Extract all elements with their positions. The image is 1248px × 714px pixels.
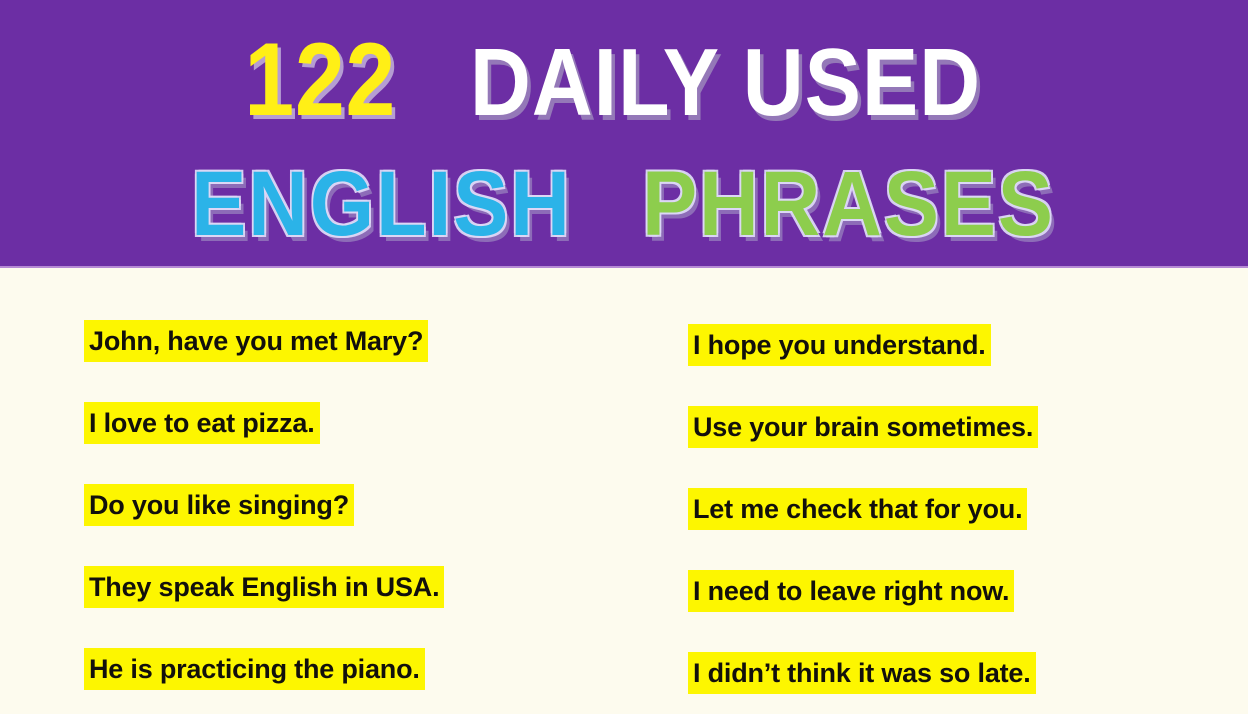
phrase-text: He is practicing the piano.: [84, 648, 425, 690]
title-daily-used: DAILY USED: [470, 35, 981, 131]
title-line-primary: 122DAILY USED: [0, 28, 1248, 132]
title-line-secondary: ENGLISHPHRASES: [0, 158, 1248, 250]
phrase-row: Let me check that for you.: [688, 468, 1233, 550]
phrase-text: John, have you met Mary?: [84, 320, 428, 362]
title-phrases: PHRASES: [642, 158, 1055, 250]
phrase-row: Do you like singing?: [84, 464, 644, 546]
phrase-column-right: I hope you understand. Use your brain so…: [688, 268, 1233, 702]
phrase-text: They speak English in USA.: [84, 566, 444, 608]
phrase-row: They speak English in USA.: [84, 546, 644, 628]
phrase-count: 122: [245, 28, 397, 132]
phrase-text: I love to eat pizza.: [84, 402, 320, 444]
phrase-row: Use your brain sometimes.: [688, 386, 1233, 468]
phrase-text: I hope you understand.: [688, 324, 991, 366]
phrase-column-left: John, have you met Mary? I love to eat p…: [84, 268, 644, 702]
phrase-text: I didn’t think it was so late.: [688, 652, 1036, 694]
phrase-list-area: John, have you met Mary? I love to eat p…: [0, 268, 1248, 702]
slide-root: 122DAILY USED ENGLISHPHRASES John, have …: [0, 0, 1248, 702]
phrase-row: I need to leave right now.: [688, 550, 1233, 632]
phrase-text: Use your brain sometimes.: [688, 406, 1038, 448]
phrase-row: John, have you met Mary?: [84, 300, 644, 382]
title-english: ENGLISH: [191, 158, 572, 250]
title-banner: 122DAILY USED ENGLISHPHRASES: [0, 0, 1248, 268]
phrase-row: I hope you understand.: [688, 304, 1233, 386]
phrase-row: I love to eat pizza.: [84, 382, 644, 464]
phrase-text: Do you like singing?: [84, 484, 354, 526]
phrase-text: Let me check that for you.: [688, 488, 1027, 530]
phrase-row: He is practicing the piano.: [84, 628, 644, 710]
phrase-text: I need to leave right now.: [688, 570, 1014, 612]
